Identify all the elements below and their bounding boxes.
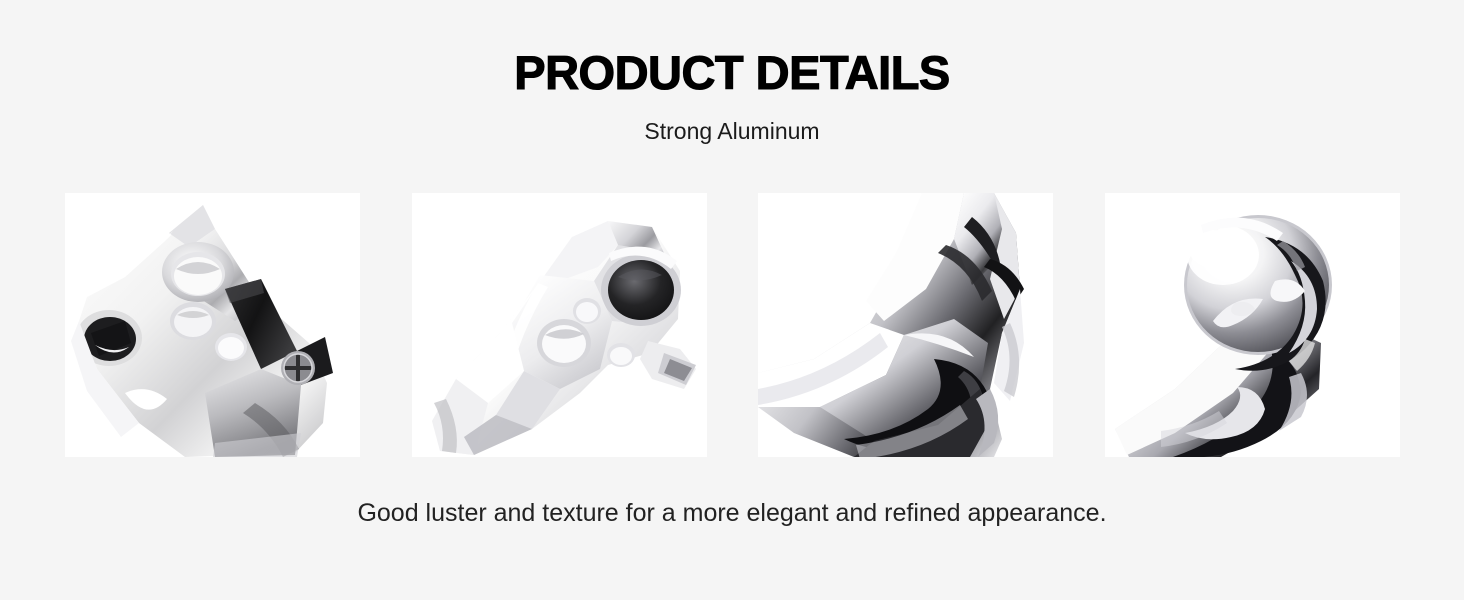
lever-clamp-photo bbox=[65, 193, 360, 457]
product-image-panel-3 bbox=[758, 193, 1053, 457]
lever-ball-end-photo bbox=[1105, 193, 1400, 457]
gallery-caption: Good luster and texture for a more elega… bbox=[0, 498, 1464, 528]
heading-block: PRODUCT DETAILS Strong Aluminum bbox=[0, 48, 1464, 145]
product-details-banner: PRODUCT DETAILS Strong Aluminum bbox=[0, 0, 1464, 600]
page-subtitle: Strong Aluminum bbox=[0, 119, 1464, 144]
product-image-panel-1 bbox=[65, 193, 360, 457]
lever-blade-photo bbox=[758, 193, 1053, 457]
page-title: PRODUCT DETAILS bbox=[0, 48, 1464, 97]
product-image-gallery bbox=[65, 193, 1400, 457]
product-image-panel-4 bbox=[1105, 193, 1400, 457]
product-image-panel-2 bbox=[412, 193, 707, 457]
lever-body-photo bbox=[412, 193, 707, 457]
